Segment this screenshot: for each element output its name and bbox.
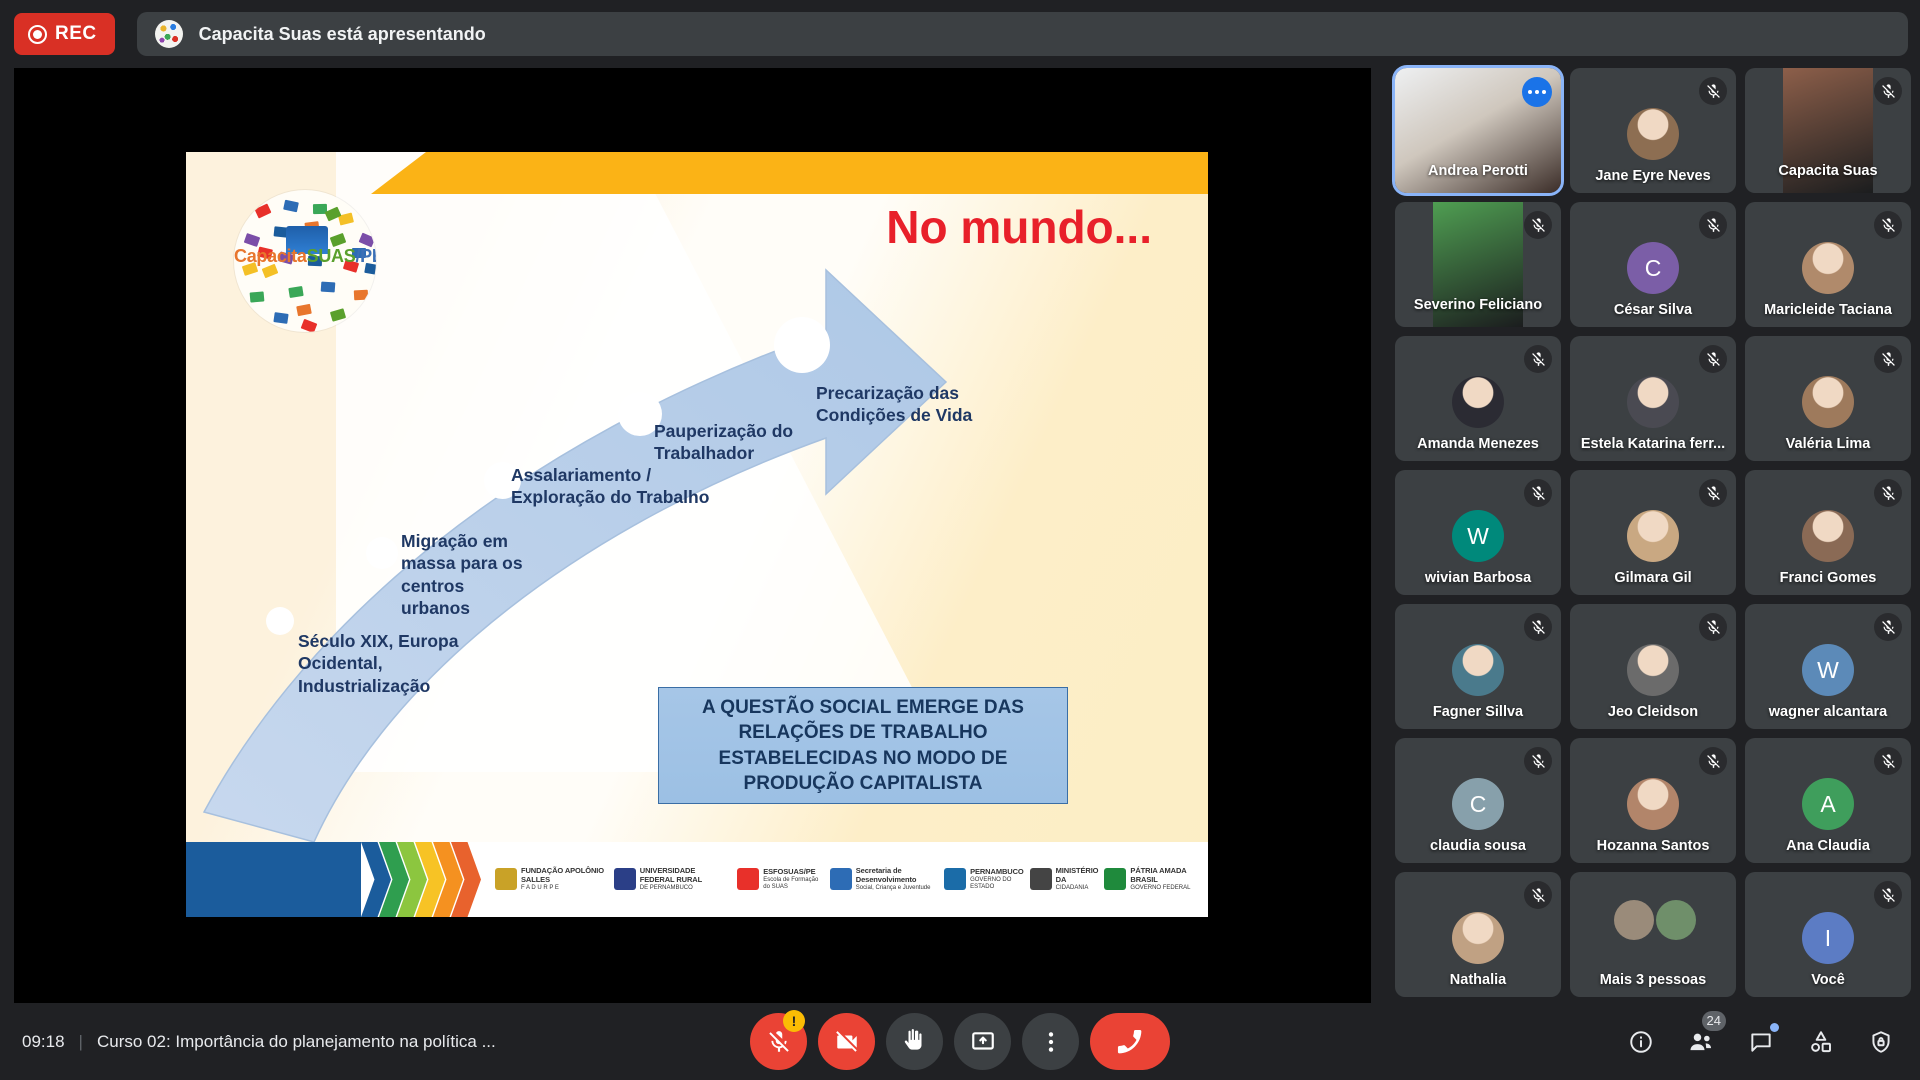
participant-tile[interactable]: IVocê bbox=[1745, 872, 1911, 997]
call-controls[interactable]: ! bbox=[750, 1013, 1170, 1070]
avatar-initial: W bbox=[1452, 510, 1504, 562]
participant-tile[interactable]: Franci Gomes bbox=[1745, 470, 1911, 595]
footer-logo-sublabel: Escola de Formação do SUAS bbox=[763, 877, 824, 891]
participant-tile[interactable]: Cclaudia sousa bbox=[1395, 738, 1561, 863]
chat-unread-dot bbox=[1770, 1023, 1779, 1032]
participant-tile[interactable]: Jeo Cleidson bbox=[1570, 604, 1736, 729]
group-avatar-1 bbox=[1614, 900, 1654, 940]
mic-off-icon bbox=[1699, 345, 1727, 373]
participant-name: Ana Claudia bbox=[1745, 838, 1911, 854]
mic-warning-badge: ! bbox=[783, 1010, 805, 1032]
participant-tile[interactable]: Hozanna Santos bbox=[1570, 738, 1736, 863]
raise-hand-button[interactable] bbox=[886, 1013, 943, 1070]
show-everyone-button[interactable]: 24 bbox=[1684, 1025, 1718, 1059]
milestone-node-5 bbox=[774, 317, 830, 373]
participant-grid[interactable]: Andrea PerottiJane Eyre NevesCapacita Su… bbox=[1385, 68, 1910, 1003]
avatar bbox=[1627, 510, 1679, 562]
footer-logo: FUNDAÇÃO APOLÔNIO SALLESF A D U R P E bbox=[495, 867, 608, 891]
participant-name: Você bbox=[1745, 972, 1911, 988]
footer-logo-sublabel: CIDADANIA bbox=[1056, 885, 1099, 892]
slide-footer: FUNDAÇÃO APOLÔNIO SALLESF A D U R P EUNI… bbox=[186, 842, 1208, 917]
avatar bbox=[1627, 778, 1679, 830]
footer-logo-sublabel: Social, Criança e Juventude bbox=[856, 885, 938, 892]
participant-tile[interactable]: AAna Claudia bbox=[1745, 738, 1911, 863]
mic-off-icon bbox=[1699, 479, 1727, 507]
participant-name: Severino Feliciano bbox=[1395, 297, 1561, 313]
footer-logo-mark-icon bbox=[1104, 868, 1126, 890]
divider: | bbox=[79, 1032, 83, 1052]
mic-off-icon bbox=[1699, 211, 1727, 239]
footer-logo-mark-icon bbox=[614, 868, 636, 890]
avatar-initial: I bbox=[1802, 912, 1854, 964]
group-avatar-2 bbox=[1656, 900, 1696, 940]
avatar bbox=[1627, 108, 1679, 160]
avatar-initial: A bbox=[1802, 778, 1854, 830]
milestone-node-1 bbox=[266, 607, 294, 635]
participant-tile[interactable]: Nathalia bbox=[1395, 872, 1561, 997]
capacita-suas-logo-icon bbox=[155, 20, 183, 48]
participant-tile[interactable]: Wwivian Barbosa bbox=[1395, 470, 1561, 595]
step-label-5: Precarização das Condições de Vida bbox=[816, 382, 972, 427]
footer-logo-label: PÁTRIA AMADA BRASILGOVERNO FEDERAL bbox=[1130, 867, 1194, 891]
avatar-initial: W bbox=[1802, 644, 1854, 696]
mic-off-icon bbox=[1699, 613, 1727, 641]
participant-tile[interactable]: Andrea Perotti bbox=[1395, 68, 1561, 193]
avatar bbox=[1452, 912, 1504, 964]
participant-tile[interactable]: Valéria Lima bbox=[1745, 336, 1911, 461]
recording-label: REC bbox=[55, 23, 97, 45]
participant-name: Fagner Sillva bbox=[1395, 704, 1561, 720]
meeting-title: Curso 02: Importância do planejamento na… bbox=[97, 1032, 496, 1052]
participant-name: Jane Eyre Neves bbox=[1570, 168, 1736, 184]
footer-logo-label: UNIVERSIDADE FEDERAL RURALDE PERNAMBUCO bbox=[640, 867, 731, 891]
participant-name: wivian Barbosa bbox=[1395, 570, 1561, 586]
participant-name: Estela Katarina ferr... bbox=[1570, 436, 1736, 452]
more-vertical-icon bbox=[1038, 1029, 1064, 1055]
recording-badge[interactable]: REC bbox=[14, 13, 115, 55]
presenting-banner: Capacita Suas está apresentando bbox=[137, 12, 1908, 56]
participant-tile[interactable]: Wwagner alcantara bbox=[1745, 604, 1911, 729]
top-bar: REC Capacita Suas está apresentando bbox=[0, 0, 1920, 68]
footer-logo: ESFOSUAS/PEEscola de Formação do SUAS bbox=[737, 868, 824, 890]
footer-logo-mark-icon bbox=[944, 868, 966, 890]
mic-off-icon bbox=[1524, 211, 1552, 239]
participant-name: Maricleide Taciana bbox=[1745, 302, 1911, 318]
participant-count-badge: 24 bbox=[1702, 1011, 1726, 1031]
footer-logo-mark-icon bbox=[1030, 868, 1052, 890]
record-dot-icon bbox=[28, 25, 47, 44]
footer-logo-sublabel: GOVERNO FEDERAL bbox=[1130, 885, 1194, 892]
mic-off-icon bbox=[1699, 77, 1727, 105]
footer-logo-mark-icon bbox=[495, 868, 517, 890]
microphone-off-button[interactable]: ! bbox=[750, 1013, 807, 1070]
footer-logo-label: ESFOSUAS/PEEscola de Formação do SUAS bbox=[763, 868, 824, 890]
participant-name: claudia sousa bbox=[1395, 838, 1561, 854]
info-icon bbox=[1628, 1029, 1654, 1055]
participant-name: Capacita Suas bbox=[1745, 163, 1911, 179]
avatar-initial: C bbox=[1627, 242, 1679, 294]
avatar bbox=[1802, 510, 1854, 562]
mic-off-icon bbox=[1874, 479, 1902, 507]
mic-off-icon bbox=[1524, 479, 1552, 507]
mic-off-icon bbox=[1699, 747, 1727, 775]
meeting-info: 09:18 | Curso 02: Importância do planeja… bbox=[0, 1032, 640, 1052]
footer-logo-label: PERNAMBUCOGOVERNO DO ESTADO bbox=[970, 868, 1024, 890]
avatar bbox=[1802, 376, 1854, 428]
mic-off-icon bbox=[1524, 747, 1552, 775]
participant-name: Jeo Cleidson bbox=[1570, 704, 1736, 720]
participant-name: Andrea Perotti bbox=[1395, 163, 1561, 179]
meeting-time: 09:18 bbox=[22, 1032, 65, 1052]
mic-off-icon bbox=[1874, 77, 1902, 105]
mic-off-icon bbox=[1524, 613, 1552, 641]
present-screen-icon bbox=[970, 1029, 996, 1055]
activities-icon bbox=[1808, 1029, 1834, 1055]
footer-logo: PÁTRIA AMADA BRASILGOVERNO FEDERAL bbox=[1104, 867, 1194, 891]
footer-logo: Secretaria de DesenvolvimentoSocial, Cri… bbox=[830, 867, 938, 891]
footer-logo-label: Secretaria de DesenvolvimentoSocial, Cri… bbox=[856, 867, 938, 891]
meeting-details-button[interactable] bbox=[1624, 1025, 1658, 1059]
key-message-text: A QUESTÃO SOCIAL EMERGE DAS RELAÇÕES DE … bbox=[669, 695, 1057, 796]
lock-shield-icon bbox=[1868, 1029, 1894, 1055]
avatar bbox=[1452, 376, 1504, 428]
camera-off-button[interactable] bbox=[818, 1013, 875, 1070]
mic-off-icon bbox=[1524, 345, 1552, 373]
participant-name: Hozanna Santos bbox=[1570, 838, 1736, 854]
mic-off-icon bbox=[1874, 345, 1902, 373]
participant-tile[interactable]: Severino Feliciano bbox=[1395, 202, 1561, 327]
participant-tile[interactable]: Amanda Menezes bbox=[1395, 336, 1561, 461]
participant-tile[interactable]: Maricleide Taciana bbox=[1745, 202, 1911, 327]
step-label-2: Migração em massa para os centros urbano… bbox=[401, 530, 523, 620]
footer-logo-sublabel: GOVERNO DO ESTADO bbox=[970, 877, 1024, 891]
present-screen-button[interactable] bbox=[954, 1013, 1011, 1070]
slide-canvas: CapacitaSUAS/PE No mundo... Século XIX, … bbox=[186, 152, 1208, 917]
people-icon bbox=[1687, 1028, 1715, 1056]
tile-more-options-button[interactable] bbox=[1522, 77, 1552, 107]
camera-off-icon bbox=[834, 1029, 860, 1055]
participant-name: Gilmara Gil bbox=[1570, 570, 1736, 586]
key-message-box: A QUESTÃO SOCIAL EMERGE DAS RELAÇÕES DE … bbox=[658, 687, 1068, 804]
step-label-4: Pauperização do Trabalhador bbox=[654, 420, 793, 465]
participant-name: Nathalia bbox=[1395, 972, 1561, 988]
footer-logo-label: MINISTÉRIO DACIDADANIA bbox=[1056, 867, 1099, 891]
avatar bbox=[1452, 644, 1504, 696]
participant-tile[interactable]: Gilmara Gil bbox=[1570, 470, 1736, 595]
mic-off-icon bbox=[1874, 211, 1902, 239]
avatar bbox=[1627, 644, 1679, 696]
chat-button[interactable] bbox=[1744, 1025, 1778, 1059]
participant-name: wagner alcantara bbox=[1745, 704, 1911, 720]
participant-tile[interactable]: Capacita Suas bbox=[1745, 68, 1911, 193]
footer-logo-sublabel: F A D U R P E bbox=[521, 885, 608, 892]
footer-logo: UNIVERSIDADE FEDERAL RURALDE PERNAMBUCO bbox=[614, 867, 731, 891]
mic-off-icon bbox=[766, 1029, 792, 1055]
footer-logo-mark-icon bbox=[830, 868, 852, 890]
end-call-button[interactable] bbox=[1090, 1013, 1170, 1070]
mic-off-icon bbox=[1874, 613, 1902, 641]
footer-logo-label: FUNDAÇÃO APOLÔNIO SALLESF A D U R P E bbox=[521, 867, 608, 891]
footer-logo: PERNAMBUCOGOVERNO DO ESTADO bbox=[944, 868, 1024, 890]
presentation-stage[interactable]: CapacitaSUAS/PE No mundo... Século XIX, … bbox=[14, 68, 1371, 1003]
hand-icon bbox=[902, 1029, 928, 1055]
milestone-node-2 bbox=[366, 537, 398, 569]
meeting-actions[interactable]: 24 bbox=[1624, 1025, 1898, 1059]
avatar bbox=[1627, 376, 1679, 428]
participant-name: César Silva bbox=[1570, 302, 1736, 318]
step-label-1: Século XIX, Europa Ocidental, Industrial… bbox=[298, 630, 458, 697]
avatar-initial: C bbox=[1452, 778, 1504, 830]
bottom-bar: 09:18 | Curso 02: Importância do planeja… bbox=[0, 1003, 1920, 1080]
more-options-button[interactable] bbox=[1022, 1013, 1079, 1070]
participant-tile[interactable]: Estela Katarina ferr... bbox=[1570, 336, 1736, 461]
step-label-3: Assalariamento / Exploração do Trabalho bbox=[511, 464, 709, 509]
mic-off-icon bbox=[1874, 881, 1902, 909]
footer-blue-block bbox=[186, 842, 361, 917]
host-controls-button[interactable] bbox=[1864, 1025, 1898, 1059]
participant-name: Amanda Menezes bbox=[1395, 436, 1561, 452]
participant-tile[interactable]: CCésar Silva bbox=[1570, 202, 1736, 327]
participant-tile[interactable]: Fagner Sillva bbox=[1395, 604, 1561, 729]
mic-off-icon bbox=[1524, 881, 1552, 909]
footer-chevrons-icon bbox=[361, 842, 481, 917]
participant-tile[interactable]: Jane Eyre Neves bbox=[1570, 68, 1736, 193]
activities-button[interactable] bbox=[1804, 1025, 1838, 1059]
end-call-icon bbox=[1114, 1026, 1146, 1058]
footer-logos-row: FUNDAÇÃO APOLÔNIO SALLESF A D U R P EUNI… bbox=[481, 867, 1208, 891]
footer-logo-mark-icon bbox=[737, 868, 759, 890]
chat-icon bbox=[1748, 1029, 1774, 1055]
participant-tile[interactable]: Mais 3 pessoas bbox=[1570, 872, 1736, 997]
participant-name: Franci Gomes bbox=[1745, 570, 1911, 586]
footer-logo-sublabel: DE PERNAMBUCO bbox=[640, 885, 731, 892]
participant-name: Mais 3 pessoas bbox=[1570, 972, 1736, 988]
presenting-label: Capacita Suas está apresentando bbox=[199, 24, 486, 45]
participant-name: Valéria Lima bbox=[1745, 436, 1911, 452]
mic-off-icon bbox=[1874, 747, 1902, 775]
footer-logo: MINISTÉRIO DACIDADANIA bbox=[1030, 867, 1099, 891]
avatar bbox=[1802, 242, 1854, 294]
